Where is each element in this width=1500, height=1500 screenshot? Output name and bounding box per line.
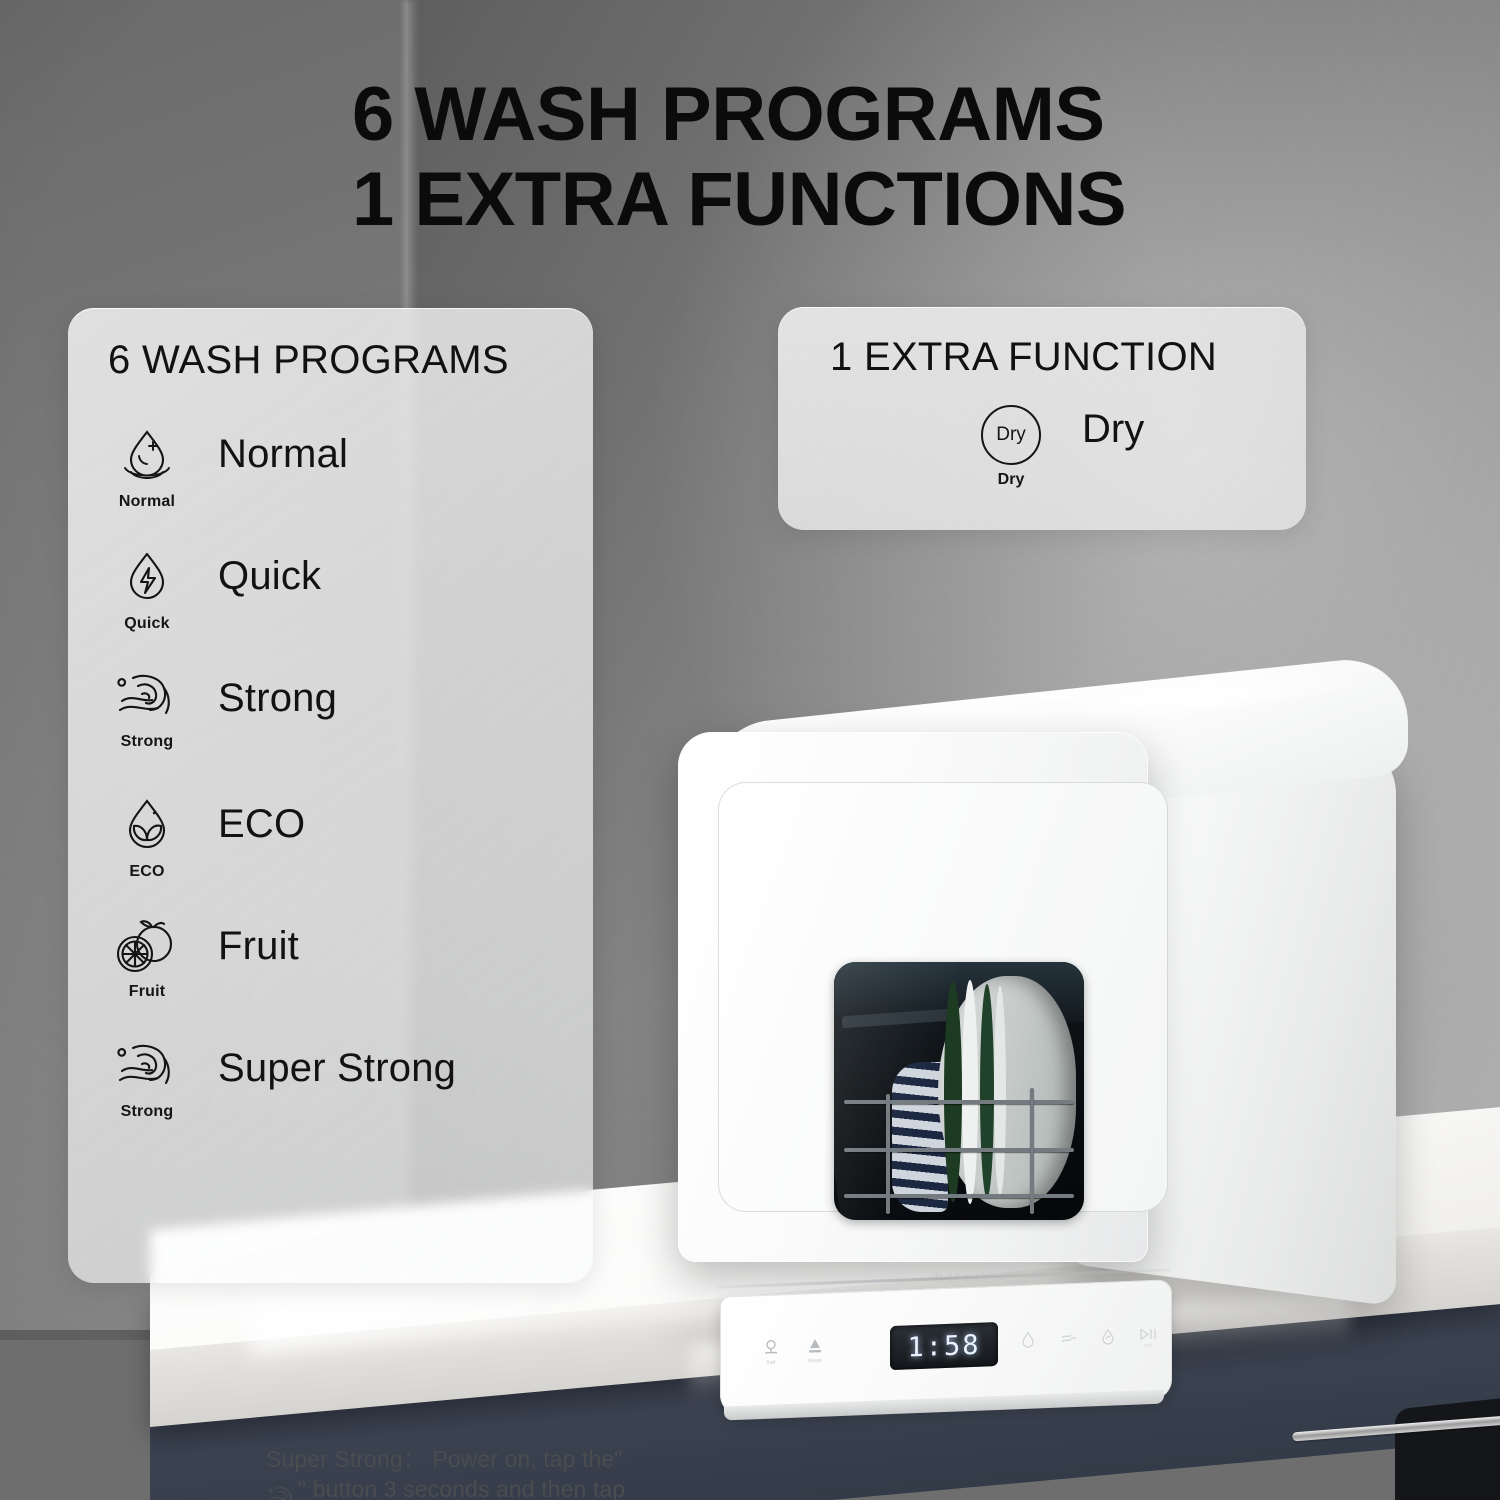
plate-white-band: [962, 980, 978, 1204]
program-name: Strong: [218, 676, 337, 721]
wave-splash-icon-inline: Strong: [268, 1485, 296, 1500]
dry-icon-label: Dry: [981, 405, 1041, 465]
program-row-eco[interactable]: ECO ECO: [104, 796, 305, 881]
dish-rack-post: [886, 1094, 890, 1214]
appliance-door[interactable]: hermitlux: [718, 782, 1168, 1212]
program-name: Normal: [218, 432, 348, 477]
wave-button-icon[interactable]: [1060, 1329, 1078, 1348]
countertop-dishwasher: hermitlux Salt: [648, 690, 1448, 1330]
headline-line-2: 1 EXTRA FUNCTIONS: [352, 157, 1352, 242]
headline-line-1: 6 WASH PROGRAMS: [352, 72, 1105, 157]
citrus-fruit-icon: Fruit: [104, 918, 190, 1001]
rinse-indicator-icon: Rinse: [806, 1337, 824, 1365]
led-display: 1:58: [890, 1322, 998, 1370]
wave-splash-icon: Strong: [104, 1040, 190, 1121]
program-name: Fruit: [218, 924, 299, 969]
dish-rack-post: [1030, 1088, 1034, 1214]
program-name: Quick: [218, 554, 321, 599]
plate-green-rim: [944, 982, 962, 1202]
program-icon-caption: Normal: [119, 493, 175, 511]
display-time-value: 1:58: [907, 1329, 980, 1363]
play-pause-button-icon[interactable]: S/P: [1138, 1326, 1158, 1350]
water-drop-bolt-icon: Quick: [104, 548, 190, 633]
button-caption: S/P: [1138, 1343, 1158, 1350]
page-title: 6 WASH PROGRAMS 1 EXTRA FUNCTIONS: [352, 72, 1352, 242]
program-row-super-strong[interactable]: Strong Super Strong: [104, 1040, 456, 1121]
note-part-1: Super Strong： Power on, tap the": [266, 1446, 623, 1472]
program-row-normal[interactable]: Normal Normal: [104, 426, 348, 511]
wash-programs-card: 6 WASH PROGRAMS Normal Normal: [68, 308, 593, 1283]
function-name: Dry: [1082, 407, 1144, 452]
extra-function-title: 1 EXTRA FUNCTION: [830, 335, 1217, 380]
program-icon-caption: Strong: [121, 1103, 174, 1121]
product-infographic: hermitlux Salt: [0, 0, 1500, 1500]
water-drop-sparkle-icon: Normal: [104, 426, 190, 511]
sink-basin: [1395, 1391, 1500, 1500]
super-strong-instruction-note: Super Strong： Power on, tap the"Strong" …: [266, 1444, 636, 1500]
salt-indicator-icon: Salt: [762, 1338, 780, 1366]
dish-rack-bar: [844, 1194, 1074, 1198]
program-icon-caption: Fruit: [129, 983, 166, 1001]
program-row-quick[interactable]: Quick Quick: [104, 548, 321, 633]
program-icon-caption: Quick: [124, 615, 169, 633]
indicator-caption: Salt: [762, 1359, 780, 1366]
program-row-fruit[interactable]: Fruit Fruit: [104, 918, 299, 1001]
eco-button-icon[interactable]: [1100, 1327, 1116, 1346]
wave-splash-icon: Strong: [104, 670, 190, 751]
plate-white-band: [994, 986, 1006, 1196]
function-icon-caption: Dry: [998, 471, 1025, 489]
program-row-strong[interactable]: Strong Strong: [104, 670, 337, 751]
dish-rack-bar: [844, 1100, 1074, 1104]
appliance-front-body: hermitlux Salt: [678, 732, 1148, 1262]
dry-circle-icon: Dry Dry: [968, 405, 1054, 489]
program-icon-caption: Strong: [121, 733, 174, 751]
dish-rack-bar: [844, 1148, 1074, 1152]
program-icon-caption: ECO: [129, 863, 164, 881]
program-name: ECO: [218, 802, 305, 847]
program-name: Super Strong: [218, 1046, 456, 1091]
indicator-caption: Rinse: [806, 1358, 824, 1365]
water-drop-leaf-icon: ECO: [104, 796, 190, 881]
plate-green-rim: [980, 984, 994, 1198]
extra-function-card: 1 EXTRA FUNCTION Dry Dry Dry: [778, 307, 1306, 530]
function-row-dry[interactable]: Dry Dry Dry: [968, 405, 1144, 489]
appliance-door-window: [834, 962, 1084, 1220]
note-part-2: " button 3 seconds and then tap the ": [266, 1476, 625, 1500]
drop-button-icon[interactable]: [1020, 1331, 1036, 1350]
wash-programs-title: 6 WASH PROGRAMS: [108, 338, 509, 383]
